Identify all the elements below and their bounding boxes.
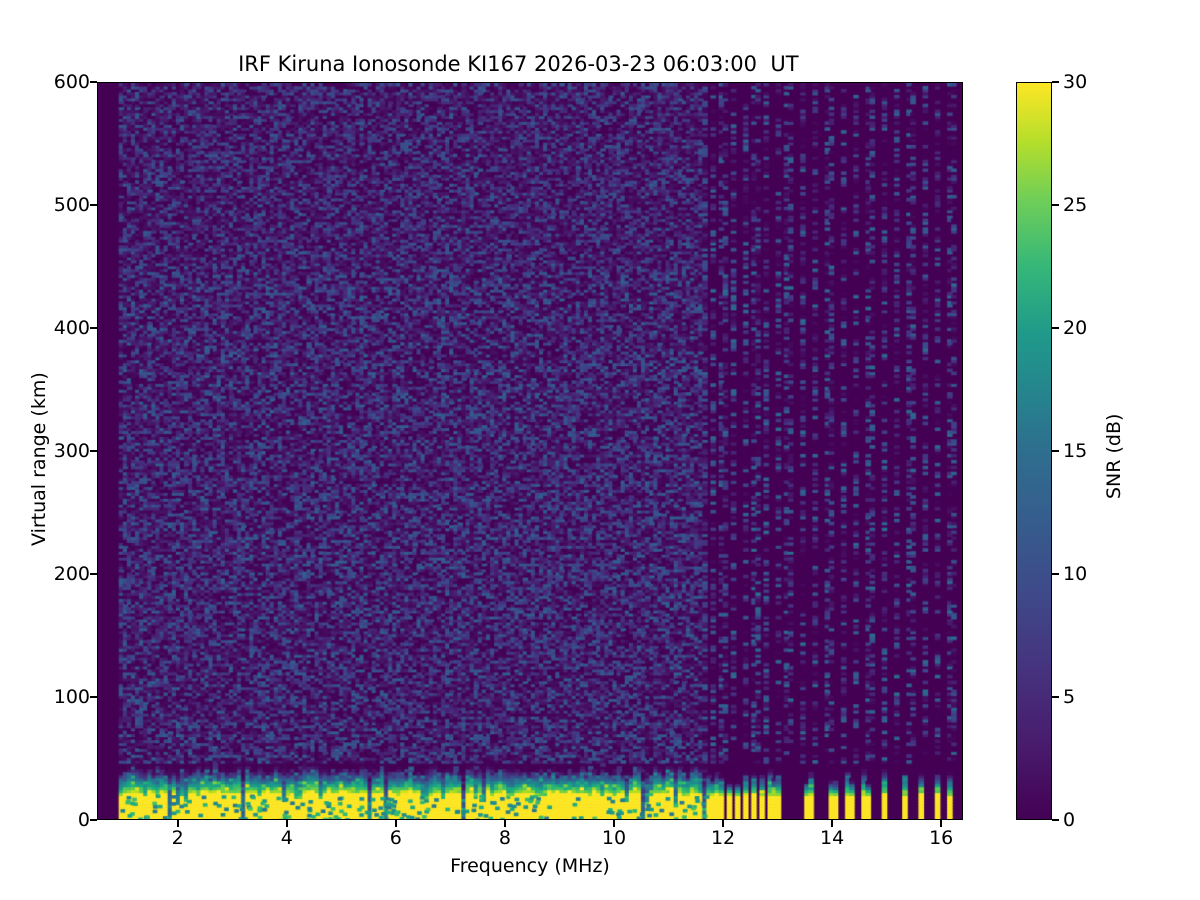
x-tick-label: 14 xyxy=(802,827,862,849)
colorbar-tick-mark xyxy=(1052,450,1059,452)
y-tick-label: 500 xyxy=(0,194,90,216)
ionogram-heatmap-canvas xyxy=(98,83,962,819)
colorbar-tick-label: 15 xyxy=(1063,440,1087,462)
colorbar-tick-mark xyxy=(1052,204,1059,206)
x-tick-mark xyxy=(940,820,942,827)
colorbar-tick-mark xyxy=(1052,327,1059,329)
colorbar-tick-label: 25 xyxy=(1063,194,1087,216)
x-tick-label: 6 xyxy=(366,827,426,849)
y-tick-label: 300 xyxy=(0,440,90,462)
x-tick-label: 4 xyxy=(257,827,317,849)
x-tick-label: 16 xyxy=(911,827,971,849)
colorbar-tick-label: 30 xyxy=(1063,71,1087,93)
y-tick-mark xyxy=(90,573,97,575)
x-tick-mark xyxy=(286,820,288,827)
x-tick-label: 8 xyxy=(475,827,535,849)
y-tick-label: 100 xyxy=(0,686,90,708)
colorbar-tick-label: 5 xyxy=(1063,686,1075,708)
title-line-1: IRF Kiruna Ionosonde KI167 2026-03-23 06… xyxy=(238,52,798,76)
colorbar-label: SNR (dB) xyxy=(1103,414,1125,499)
y-tick-label: 200 xyxy=(0,563,90,585)
colorbar-tick-label: 0 xyxy=(1063,809,1075,831)
y-tick-label: 0 xyxy=(0,809,90,831)
y-tick-mark xyxy=(90,204,97,206)
x-tick-mark xyxy=(722,820,724,827)
x-tick-label: 12 xyxy=(693,827,753,849)
x-tick-mark xyxy=(177,820,179,827)
x-tick-mark xyxy=(395,820,397,827)
colorbar-tick-mark xyxy=(1052,81,1059,83)
colorbar-tick-label: 10 xyxy=(1063,563,1087,585)
ionogram-plot-area[interactable] xyxy=(97,82,963,820)
x-tick-mark xyxy=(504,820,506,827)
x-tick-label: 10 xyxy=(584,827,644,849)
y-tick-mark xyxy=(90,450,97,452)
x-tick-label: 2 xyxy=(148,827,208,849)
ionogram-figure: IRF Kiruna Ionosonde KI167 2026-03-23 06… xyxy=(0,0,1200,900)
colorbar[interactable] xyxy=(1016,82,1052,820)
x-tick-mark xyxy=(831,820,833,827)
y-tick-mark xyxy=(90,81,97,83)
colorbar-tick-mark xyxy=(1052,573,1059,575)
x-axis-label: Frequency (MHz) xyxy=(97,855,963,877)
colorbar-tick-mark xyxy=(1052,819,1059,821)
colorbar-tick-label: 20 xyxy=(1063,317,1087,339)
y-tick-mark xyxy=(90,696,97,698)
y-tick-mark xyxy=(90,819,97,821)
y-tick-label: 400 xyxy=(0,317,90,339)
y-tick-mark xyxy=(90,327,97,329)
y-tick-label: 600 xyxy=(0,71,90,93)
x-tick-mark xyxy=(613,820,615,827)
colorbar-tick-mark xyxy=(1052,696,1059,698)
